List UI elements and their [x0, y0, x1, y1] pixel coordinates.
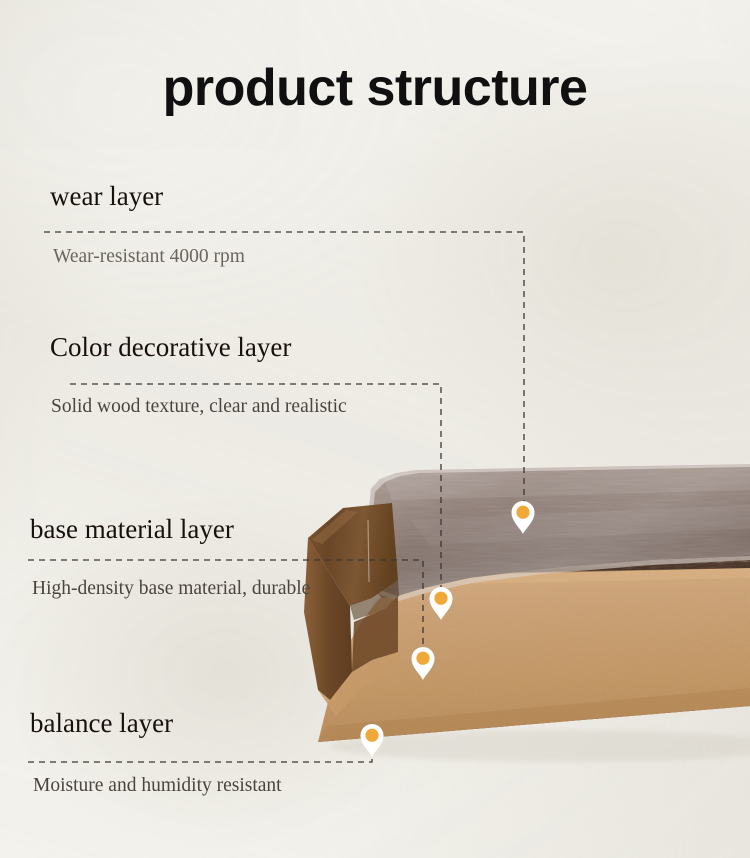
marker-core-layer[interactable]	[412, 647, 435, 680]
marker-decor-layer[interactable]	[430, 587, 453, 620]
marker-balance-layer[interactable]	[361, 724, 384, 757]
marker-wear-layer[interactable]	[512, 501, 535, 534]
infographic-page: product structure	[0, 0, 750, 858]
layer-markers	[0, 0, 750, 858]
